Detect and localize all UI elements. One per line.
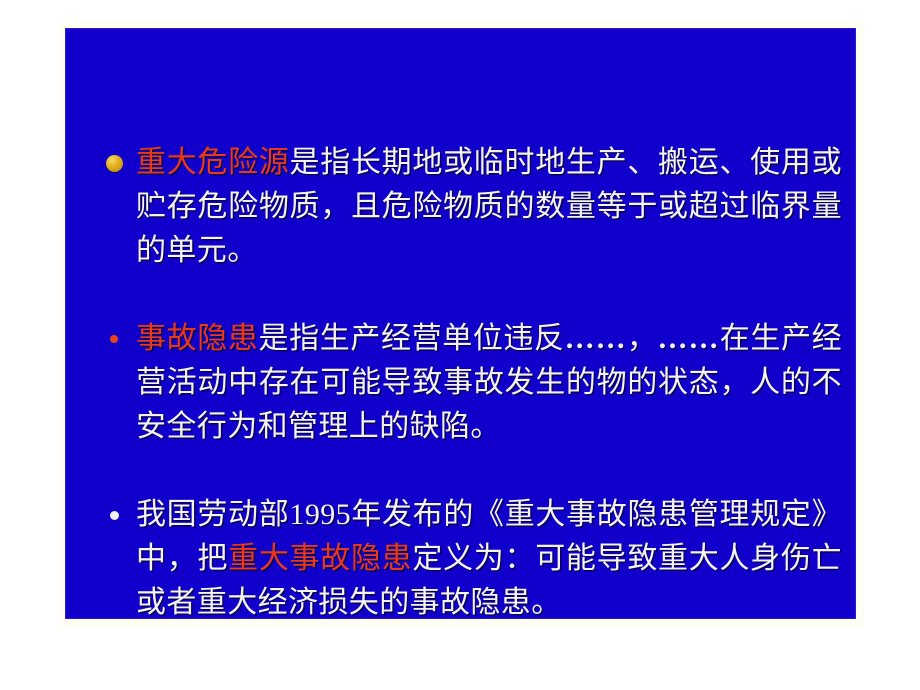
paragraph-2-run-2: …… xyxy=(565,322,627,355)
red-dot-bullet-icon xyxy=(110,335,118,343)
bullet-marker-3 xyxy=(102,493,136,537)
paragraph-2-run-4: …… xyxy=(658,322,720,355)
paragraph-2-run-1: 是指生产经营单位违反 xyxy=(258,322,564,355)
paragraph-3-run-1: 重大事故隐患 xyxy=(228,542,412,575)
paragraph-1-text: 重大危险源是指长期地或临时地生产、搬运、使用或贮存危险物质，且危险物质的数量等于… xyxy=(136,141,842,273)
paragraph-3-text: 我国劳动部1995年发布的《重大事故隐患管理规定》中，把重大事故隐患定义为：可能… xyxy=(136,493,842,618)
paragraph-1-run-0: 重大危险源 xyxy=(136,146,290,179)
white-dot-bullet-icon xyxy=(110,511,119,520)
paragraph-2-text: 事故隐患是指生产经营单位违反……，……在生产经营活动中存在可能导致事故发生的物的… xyxy=(136,317,842,449)
presentation-slide: 重大危险源是指长期地或临时地生产、搬运、使用或贮存危险物质，且危险物质的数量等于… xyxy=(66,29,855,618)
gold-sphere-bullet-icon xyxy=(106,155,123,172)
bullet-marker-2 xyxy=(102,317,136,361)
paragraph-2-run-0: 事故隐患 xyxy=(136,322,258,355)
bullet-marker-1 xyxy=(102,141,136,185)
slide-page: 重大危险源是指长期地或临时地生产、搬运、使用或贮存危险物质，且危险物质的数量等于… xyxy=(0,0,920,690)
bullet-paragraph-3: 我国劳动部1995年发布的《重大事故隐患管理规定》中，把重大事故隐患定义为：可能… xyxy=(102,493,842,618)
bullet-paragraph-1: 重大危险源是指长期地或临时地生产、搬运、使用或贮存危险物质，且危险物质的数量等于… xyxy=(102,141,842,273)
paragraph-2-run-3: ， xyxy=(627,322,658,355)
bullet-paragraph-2: 事故隐患是指生产经营单位违反……，……在生产经营活动中存在可能导致事故发生的物的… xyxy=(102,317,842,449)
slide-body-content: 重大危险源是指长期地或临时地生产、搬运、使用或贮存危险物质，且危险物质的数量等于… xyxy=(102,141,842,618)
